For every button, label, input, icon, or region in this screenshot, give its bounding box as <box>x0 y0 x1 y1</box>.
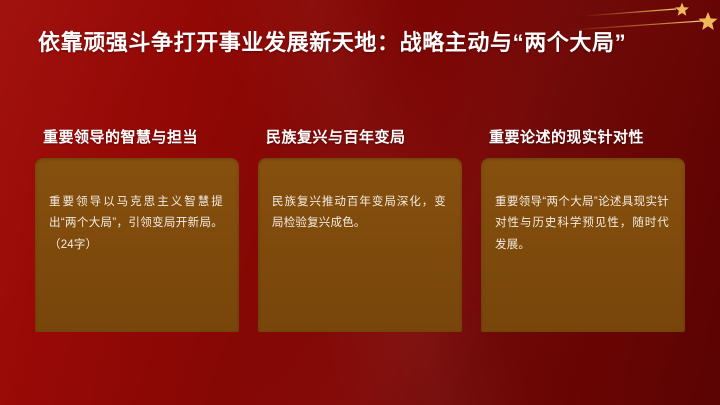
card-column-1: 重要领导的智慧与担当 重要领导以马克思主义智慧提出“两个大局”，引领变局开新局。… <box>35 118 239 332</box>
card-heading-3: 重要论述的现实针对性 <box>481 118 685 158</box>
star-icon-large <box>699 12 718 30</box>
card-text-3: 重要领导“两个大局”论述具现实针对性与历史科学预见性，随时代发展。 <box>495 192 669 256</box>
card-heading-2: 民族复兴与百年变局 <box>258 118 462 158</box>
presentation-slide: 依靠顽强斗争打开事业发展新天地：战略主动与“两个大局” 重要领导的智慧与担当 重… <box>0 0 720 405</box>
card-body-3: 重要领导“两个大局”论述具现实针对性与历史科学预见性，随时代发展。 <box>481 158 685 332</box>
card-body-2: 民族复兴推动百年变局深化，变局检验复兴成色。 <box>258 158 462 332</box>
card-group: 重要领导的智慧与担当 重要领导以马克思主义智慧提出“两个大局”，引领变局开新局。… <box>35 118 685 332</box>
card-heading-1: 重要领导的智慧与担当 <box>35 118 239 158</box>
card-column-2: 民族复兴与百年变局 民族复兴推动百年变局深化，变局检验复兴成色。 <box>258 118 462 332</box>
page-title: 依靠顽强斗争打开事业发展新天地：战略主动与“两个大局” <box>38 25 626 57</box>
card-text-1: 重要领导以马克思主义智慧提出“两个大局”，引领变局开新局。（24字） <box>49 192 223 256</box>
card-text-2: 民族复兴推动百年变局深化，变局检验复兴成色。 <box>272 192 446 235</box>
star-icon-small <box>675 3 689 16</box>
card-column-3: 重要论述的现实针对性 重要领导“两个大局”论述具现实针对性与历史科学预见性，随时… <box>481 118 685 332</box>
card-body-1: 重要领导以马克思主义智慧提出“两个大局”，引领变局开新局。（24字） <box>35 158 239 332</box>
